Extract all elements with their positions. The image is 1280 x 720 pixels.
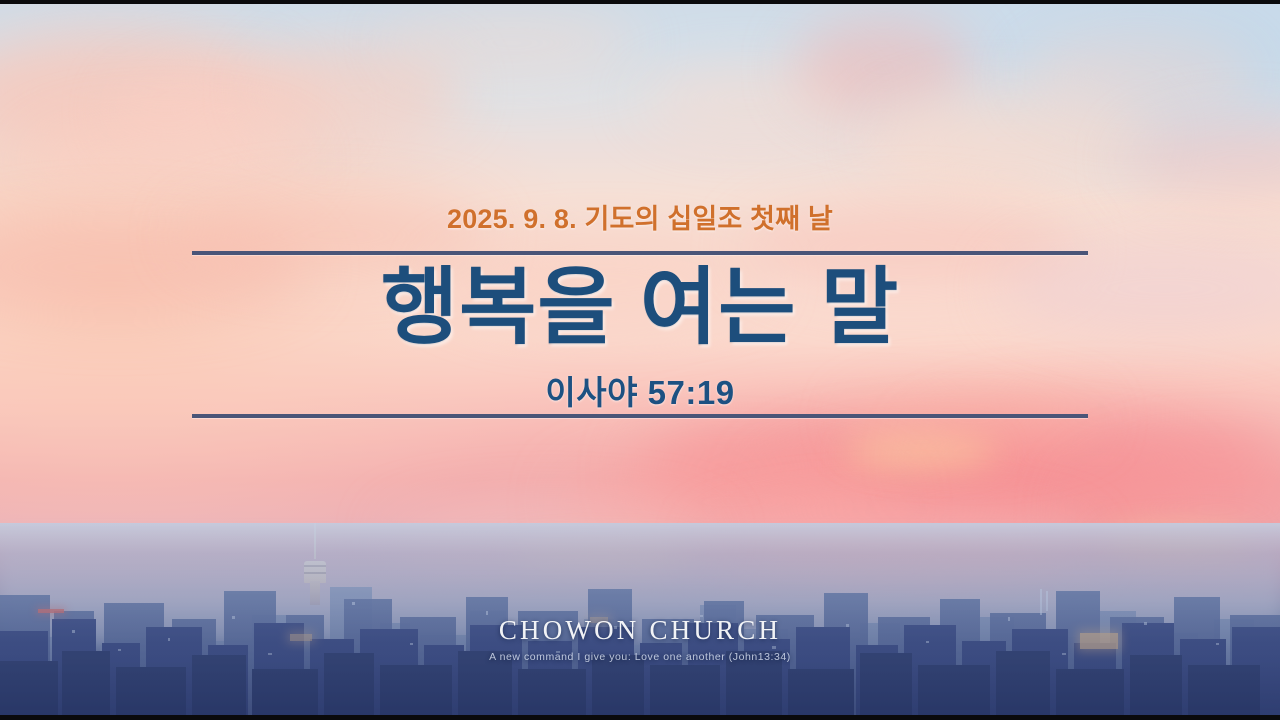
sermon-title-slide: CHOWON CHURCH A new command I give you: … [0,0,1280,720]
church-name: CHOWON CHURCH [0,615,1280,646]
letterbox-bar-bottom [0,715,1280,720]
sermon-title: 행복을 여는 말 [0,263,1280,351]
scripture-reference: 이사야 57:19 [0,366,1280,414]
title-overlay: 2025. 9. 8. 기도의 십일조 첫째 날 행복을 여는 말 이사야 57… [0,0,1280,720]
letterbox-bar-top [0,0,1280,4]
divider-rule-top [192,251,1088,255]
church-motto: A new command I give you: Love one anoth… [0,651,1280,663]
church-logo-watermark: CHOWON CHURCH A new command I give you: … [0,615,1280,663]
date-and-event-line: 2025. 9. 8. 기도의 십일조 첫째 날 [0,197,1280,236]
divider-rule-bottom [192,414,1088,418]
